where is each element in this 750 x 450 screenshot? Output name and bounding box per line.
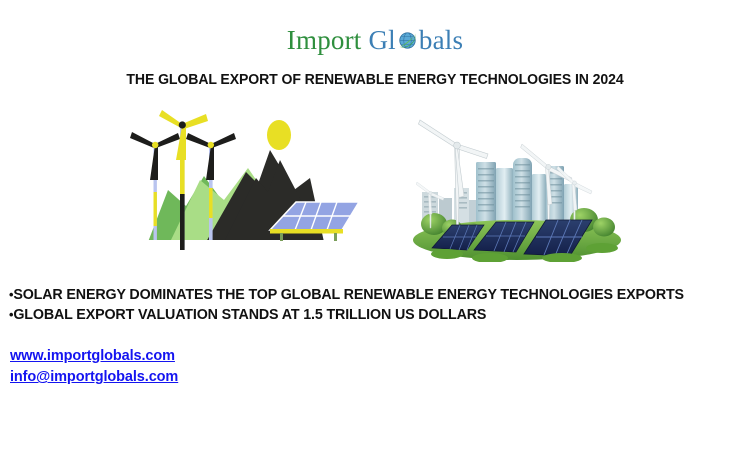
sun-shape — [267, 120, 291, 150]
solar-panel-base — [270, 229, 343, 234]
globe-leaf-icon — [396, 29, 419, 52]
bullet-text: GLOBAL EXPORT VALUATION STANDS AT 1.5 TR… — [13, 307, 486, 323]
website-link[interactable]: www.importglobals.com — [10, 346, 175, 367]
brand-name-gl: Gl — [368, 27, 395, 54]
ground-line — [138, 240, 358, 243]
list-item: •GLOBAL EXPORT VALUATION STANDS AT 1.5 T… — [9, 306, 739, 326]
key-findings-list: •SOLAR ENERGY DOMINATES THE TOP GLOBAL R… — [0, 286, 750, 325]
brand-name-bals: bals — [419, 27, 463, 54]
flat-renewable-landscape-illustration — [128, 102, 368, 262]
brand-logo-row: Import Gl bals — [0, 0, 750, 62]
bullet-text: SOLAR ENERGY DOMINATES THE TOP GLOBAL RE… — [13, 287, 684, 303]
illustration-row — [0, 102, 750, 262]
list-item: •SOLAR ENERGY DOMINATES THE TOP GLOBAL R… — [9, 286, 739, 306]
brand-logo[interactable]: Import Gl bals — [287, 27, 463, 54]
footer-links: www.importglobals.com info@importglobals… — [0, 346, 750, 388]
page-title: THE GLOBAL EXPORT OF RENEWABLE ENERGY TE… — [11, 72, 739, 88]
email-link[interactable]: info@importglobals.com — [10, 367, 178, 388]
brand-name-import: Import — [287, 27, 362, 54]
green-city-renewable-render — [412, 100, 622, 262]
